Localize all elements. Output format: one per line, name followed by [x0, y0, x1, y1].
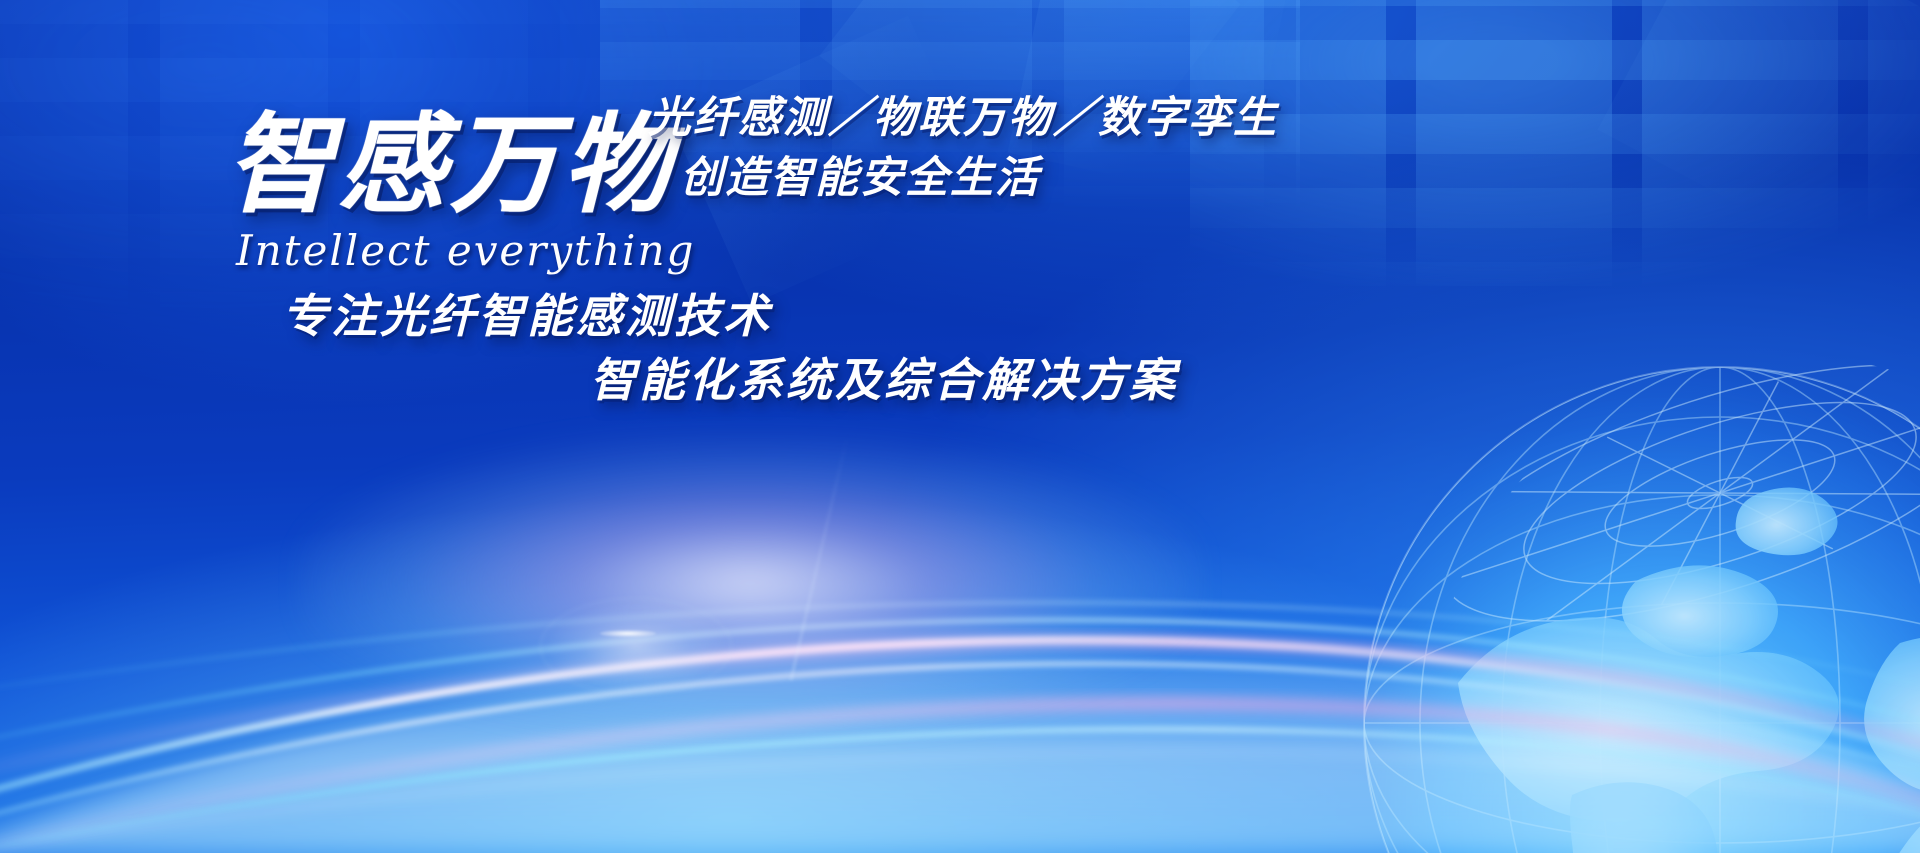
subheading-block: 专注光纤智能感测技术 智能化系统及综合解决方案 [282, 284, 1178, 412]
polygon-facet-icon [1598, 0, 1920, 280]
page-subtitle-english: Intellect everything [236, 226, 695, 275]
hero-banner: 智感万物 Intellect everything 光纤感测／物联万物／数字孪生… [0, 0, 1920, 853]
tagline-block: 光纤感测／物联万物／数字孪生 创造智能安全生活 [648, 88, 1278, 208]
tagline-line-2: 创造智能安全生活 [648, 148, 1278, 208]
subheading-line-2: 智能化系统及综合解决方案 [282, 348, 1178, 412]
lens-flare-icon [600, 630, 656, 637]
light-ray-icon [790, 436, 848, 680]
lens-flare-icon [540, 598, 732, 695]
subheading-line-1: 专注光纤智能感测技术 [282, 284, 1178, 348]
data-blocks-icon [1190, 0, 1920, 286]
light-streak-icon [0, 433, 1920, 853]
light-glow [300, 433, 1200, 733]
page-title: 智感万物 [226, 78, 674, 234]
tagline-line-1: 光纤感测／物联万物／数字孪生 [648, 88, 1278, 148]
globe-icon [1340, 343, 1920, 853]
